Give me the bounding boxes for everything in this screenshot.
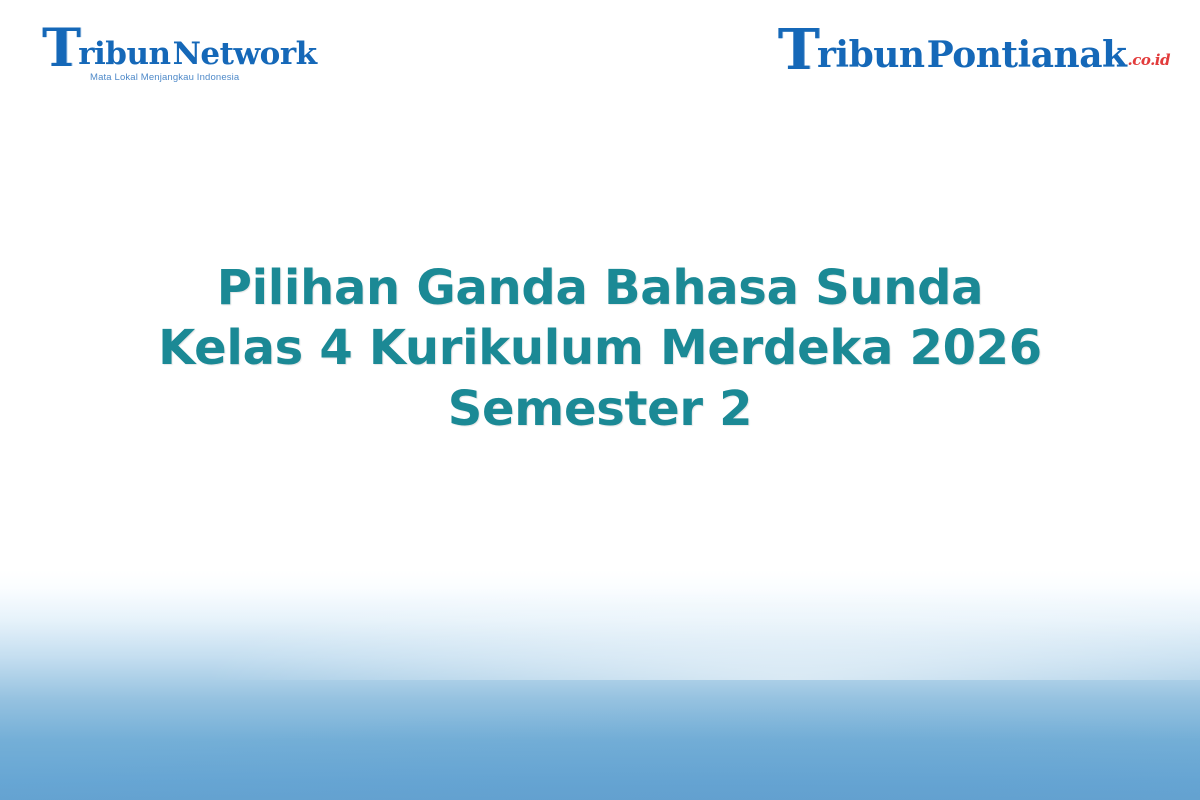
logo-wordmark: T ribun Pontianak .co.id: [778, 24, 1170, 73]
headline-line-3: Semester 2: [158, 379, 1042, 439]
logo-tagline: Mata Lokal Menjangkau Indonesia: [90, 73, 239, 83]
page-title: Pilihan Ganda Bahasa Sunda Kelas 4 Kurik…: [158, 258, 1042, 439]
tribun-pontianak-logo[interactable]: T ribun Pontianak .co.id: [778, 24, 1170, 73]
logo-word-primary: ribun: [817, 37, 925, 73]
share-card: T ribun Network Mata Lokal Menjangkau In…: [0, 0, 1200, 800]
headline-line-1: Pilihan Ganda Bahasa Sunda: [158, 258, 1042, 318]
logo-dropcap-letter: T: [778, 26, 819, 75]
headline-line-2: Kelas 4 Kurikulum Merdeka 2026: [158, 318, 1042, 378]
logo-tld-suffix: .co.id: [1127, 53, 1170, 68]
logo-word-secondary: Network: [173, 39, 317, 70]
tribun-network-logo[interactable]: T ribun Network Mata Lokal Menjangkau In…: [42, 24, 317, 83]
bottom-gradient-band: [0, 570, 1200, 800]
logo-word-secondary: Pontianak: [927, 37, 1127, 73]
logo-stack: T ribun Network Mata Lokal Menjangkau In…: [42, 24, 317, 83]
logo-word-primary: ribun: [78, 39, 170, 70]
logo-wordmark: T ribun Network: [42, 24, 317, 70]
headline-block: Pilihan Ganda Bahasa Sunda Kelas 4 Kurik…: [0, 258, 1200, 439]
logo-dropcap-letter: T: [42, 26, 80, 72]
bottom-gradient-haze: [0, 550, 1200, 680]
